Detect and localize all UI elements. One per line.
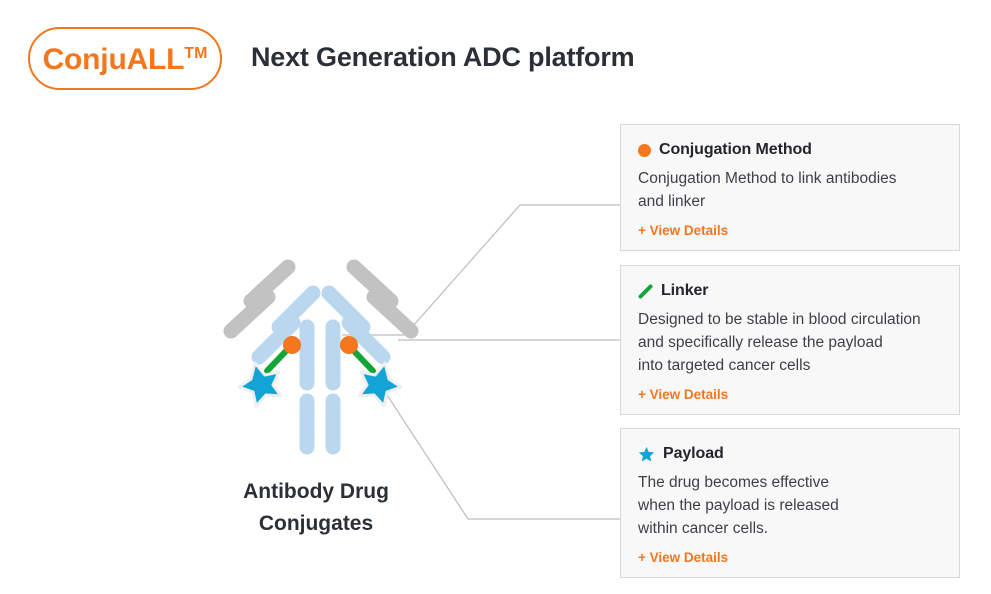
conjugation-dot-left — [283, 336, 301, 354]
page-header: ConjuALLTM Next Generation ADC platform — [0, 0, 991, 110]
view-details-link[interactable]: + View Details — [638, 387, 728, 402]
payload-star-right — [359, 363, 401, 406]
logo-name: ConjuALL — [43, 43, 185, 76]
card-header: Payload — [638, 445, 942, 463]
conjugation-dot-right — [340, 336, 358, 354]
conjugation-site-dots — [283, 336, 358, 354]
green-linker-icon — [638, 284, 653, 299]
antibody-caption: Antibody Drug Conjugates — [196, 476, 436, 539]
payload-star-left — [239, 363, 281, 406]
card-description: The drug becomes effective when the payl… — [638, 472, 942, 541]
card-description: Designed to be stable in blood circulati… — [638, 309, 942, 378]
antibody-diagram: Antibody Drug Conjugates — [0, 110, 620, 594]
card-title: Conjugation Method — [659, 141, 812, 159]
view-details-link[interactable]: + View Details — [638, 550, 728, 565]
info-card-conjugation-method[interactable]: Conjugation Method Conjugation Method to… — [620, 124, 960, 251]
logo-trademark: TM — [184, 45, 207, 62]
view-details-link[interactable]: + View Details — [638, 223, 728, 238]
antibody-fc-region — [307, 327, 333, 447]
antibody-drug-conjugate-graphic — [215, 255, 427, 455]
info-card-linker[interactable]: Linker Designed to be stable in blood ci… — [620, 265, 960, 415]
blue-star-icon — [638, 446, 655, 463]
logo-text: ConjuALLTM — [43, 45, 208, 75]
orange-dot-icon — [638, 144, 651, 157]
card-header: Linker — [638, 282, 942, 300]
card-title: Payload — [663, 445, 724, 463]
info-card-payload[interactable]: Payload The drug becomes effective when … — [620, 428, 960, 578]
card-title: Linker — [661, 282, 708, 300]
conjuall-logo-badge: ConjuALLTM — [28, 27, 222, 90]
card-header: Conjugation Method — [638, 141, 942, 159]
page-title: Next Generation ADC platform — [251, 42, 634, 73]
card-description: Conjugation Method to link antibodies an… — [638, 168, 942, 214]
linker-strokes — [267, 350, 373, 371]
payload-stars — [239, 363, 401, 406]
